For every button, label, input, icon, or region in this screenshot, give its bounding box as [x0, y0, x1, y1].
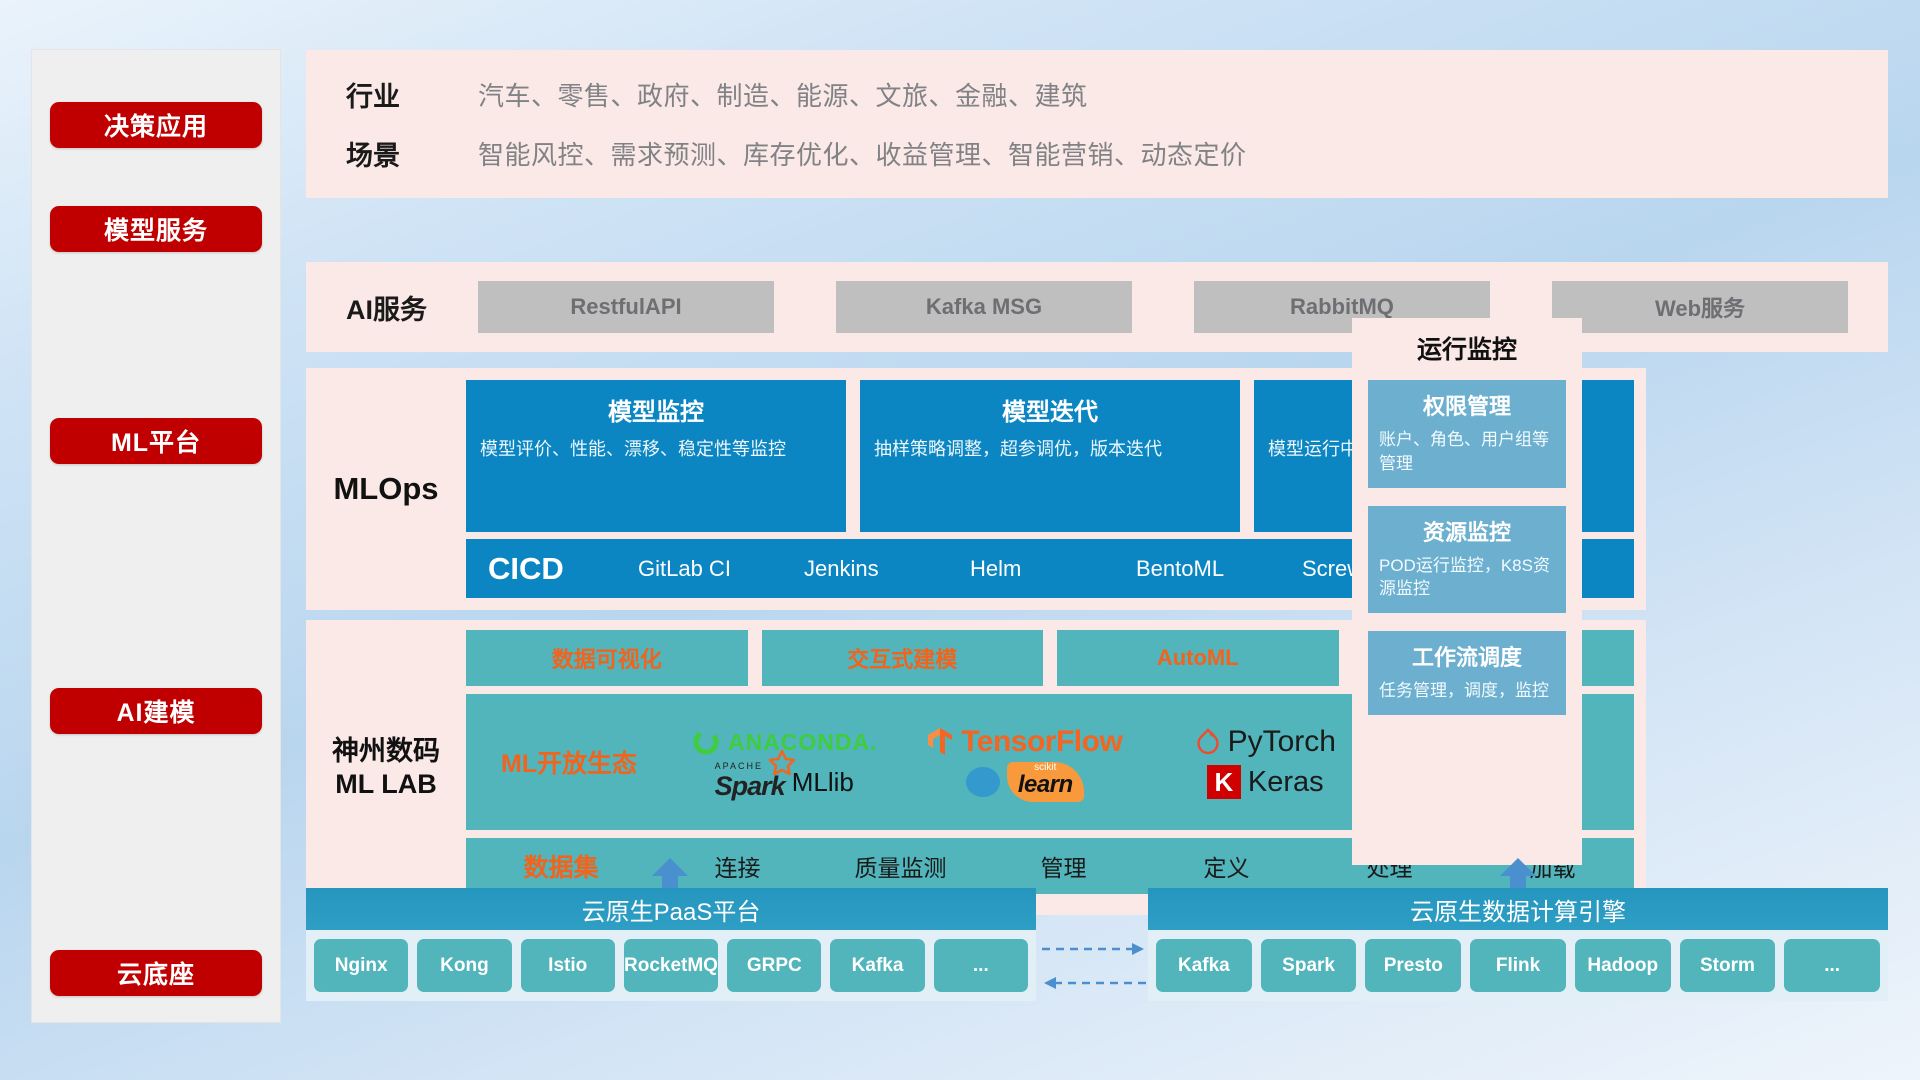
cicd-item-gitlab-ci[interactable]: GitLab CI [638, 558, 804, 580]
ai-service-item-restfulapi[interactable]: RestfulAPI [478, 281, 774, 333]
main-column: 行业 汽车、零售、政府、制造、能源、文旅、金融、建筑 场景 智能风控、需求预测、… [306, 50, 1888, 1022]
engine-chip-hadoop[interactable]: Hadoop [1575, 939, 1671, 992]
tensorflow-mark-icon [927, 727, 954, 757]
bidirectional-dashed-link-icon [1040, 935, 1148, 995]
dataset-item-quality[interactable]: 质量监测 [819, 849, 982, 883]
scikit-learn-wordmark: scikit learn [1007, 762, 1084, 802]
paas-chip-istio[interactable]: Istio [521, 939, 615, 992]
mlops-card-desc: 抽样策略调整，超参调优，版本迭代 [874, 437, 1226, 463]
keras-logo-text: Keras [1248, 766, 1324, 799]
cicd-item-bentoml[interactable]: BentoML [1136, 558, 1302, 580]
ml-lab-label-line1: 神州数码 [332, 735, 440, 768]
monitor-card-title: 资源监控 [1379, 515, 1555, 547]
engine-chip-storm[interactable]: Storm [1680, 939, 1776, 992]
ai-service-label: AI服务 [346, 288, 478, 327]
industry-scenario-band: 行业 汽车、零售、政府、制造、能源、文旅、金融、建筑 场景 智能风控、需求预测、… [306, 50, 1888, 198]
paas-chip-kong[interactable]: Kong [417, 939, 511, 992]
monitor-card-desc: 账户、角色、用户组等管理 [1379, 428, 1555, 476]
keras-logo: K Keras [1145, 765, 1386, 799]
learn-text: learn [1018, 771, 1073, 798]
monitor-card-title: 工作流调度 [1379, 640, 1555, 672]
paas-chip-rocketmq[interactable]: RocketMQ [624, 939, 718, 992]
cicd-item-helm[interactable]: Helm [970, 558, 1136, 580]
rail-item-ai-modeling[interactable]: AI建模 [50, 688, 262, 734]
lab-tool-interactive-modeling[interactable]: 交互式建模 [762, 630, 1044, 686]
industry-label: 行业 [346, 75, 478, 114]
monitor-card-workflow[interactable]: 工作流调度 任务管理，调度，监控 [1368, 631, 1566, 715]
scenario-row: 场景 智能风控、需求预测、库存优化、收益管理、智能营销、动态定价 [346, 134, 1888, 173]
cloud-paas-block: 云原生PaaS平台 Nginx Kong Istio RocketMQ GRPC… [306, 888, 1036, 1022]
ai-service-band: AI服务 RestfulAPI Kafka MSG RabbitMQ Web服务 [306, 262, 1888, 352]
runtime-monitor-panel: 运行监控 权限管理 账户、角色、用户组等管理 资源监控 POD运行监控，K8S资… [1352, 318, 1582, 865]
ml-lab-label: 神州数码 ML LAB [306, 620, 466, 915]
monitor-card-desc: POD运行监控，K8S资源监控 [1379, 554, 1555, 602]
lab-tool-automl[interactable]: AutoML [1057, 630, 1339, 686]
mlops-card-model-iteration[interactable]: 模型迭代 抽样策略调整，超参调优，版本迭代 [860, 380, 1240, 532]
paas-chip-grpc[interactable]: GRPC [727, 939, 821, 992]
dataset-item-define[interactable]: 定义 [1145, 849, 1308, 883]
tensorflow-logo-text: TensorFlow [961, 725, 1122, 759]
pytorch-flame-icon [1195, 727, 1221, 757]
scenario-label: 场景 [346, 134, 478, 173]
ml-ecosystem-label: ML开放生态 [474, 744, 664, 780]
cloud-paas-title: 云原生PaaS平台 [306, 888, 1036, 930]
monitor-card-resource[interactable]: 资源监控 POD运行监控，K8S资源监控 [1368, 506, 1566, 614]
monitor-card-permission[interactable]: 权限管理 账户、角色、用户组等管理 [1368, 380, 1566, 488]
engine-chip-spark[interactable]: Spark [1261, 939, 1357, 992]
dataset-item-manage[interactable]: 管理 [982, 849, 1145, 883]
cloud-data-engine-block: 云原生数据计算引擎 Kafka Spark Presto Flink Hadoo… [1148, 888, 1888, 1022]
paas-chip-kafka[interactable]: Kafka [830, 939, 924, 992]
cicd-item-jenkins[interactable]: Jenkins [804, 558, 970, 580]
rail-item-ml-platform[interactable]: ML平台 [50, 418, 262, 464]
rail-item-model-service[interactable]: 模型服务 [50, 206, 262, 252]
industry-row: 行业 汽车、零售、政府、制造、能源、文旅、金融、建筑 [346, 75, 1888, 114]
rail-item-decision-app[interactable]: 决策应用 [50, 102, 262, 148]
monitor-card-title: 权限管理 [1379, 389, 1555, 421]
mlops-card-desc: 模型评价、性能、漂移、稳定性等监控 [480, 437, 832, 463]
scikit-learn-logo: scikit learn [905, 762, 1146, 802]
engine-chip-kafka[interactable]: Kafka [1156, 939, 1252, 992]
ml-lab-label-line2: ML LAB [335, 768, 437, 801]
mllib-logo-text: MLlib [792, 767, 854, 798]
spark-mllib-logo: APACHE Spark MLlib [664, 762, 905, 802]
architecture-diagram: 决策应用 模型服务 ML平台 AI建模 云底座 行业 汽车、零售、政府、制造、能… [0, 0, 1920, 1080]
engine-chip-presto[interactable]: Presto [1365, 939, 1461, 992]
pytorch-logo-text: PyTorch [1228, 725, 1336, 759]
anaconda-logo-text: ANACONDA. [728, 729, 878, 756]
spark-star-icon [767, 748, 797, 778]
dataset-label: 数据集 [466, 848, 656, 884]
industry-value: 汽车、零售、政府、制造、能源、文旅、金融、建筑 [478, 76, 1088, 113]
cicd-label: CICD [488, 551, 638, 587]
rail-item-cloud-base[interactable]: 云底座 [50, 950, 262, 996]
paas-chip-more[interactable]: ... [934, 939, 1028, 992]
monitor-card-desc: 任务管理，调度，监控 [1379, 679, 1555, 703]
lab-tool-data-visualization[interactable]: 数据可视化 [466, 630, 748, 686]
pytorch-logo: PyTorch [1145, 725, 1386, 759]
mlops-card-model-monitoring[interactable]: 模型监控 模型评价、性能、漂移、稳定性等监控 [466, 380, 846, 532]
ai-service-item-kafka-msg[interactable]: Kafka MSG [836, 281, 1132, 333]
engine-chip-more[interactable]: ... [1784, 939, 1880, 992]
spark-wordmark: APACHE Spark [715, 762, 785, 802]
mlops-label: MLOps [306, 368, 466, 610]
tensorflow-logo: TensorFlow [905, 725, 1146, 759]
engine-chip-flink[interactable]: Flink [1470, 939, 1566, 992]
cloud-data-engine-title: 云原生数据计算引擎 [1148, 888, 1888, 930]
keras-k-icon: K [1207, 765, 1241, 799]
scenario-value: 智能风控、需求预测、库存优化、收益管理、智能营销、动态定价 [478, 135, 1247, 172]
layer-rail: 决策应用 模型服务 ML平台 AI建模 云底座 [32, 50, 280, 1022]
paas-chip-nginx[interactable]: Nginx [314, 939, 408, 992]
anaconda-ring-icon [691, 727, 721, 757]
mlops-card-title: 模型监控 [480, 392, 832, 427]
runtime-monitor-title: 运行监控 [1368, 330, 1566, 366]
ai-service-item-web[interactable]: Web服务 [1552, 281, 1848, 333]
scikit-blob-icon [966, 767, 1000, 797]
mlops-card-title: 模型迭代 [874, 392, 1226, 427]
